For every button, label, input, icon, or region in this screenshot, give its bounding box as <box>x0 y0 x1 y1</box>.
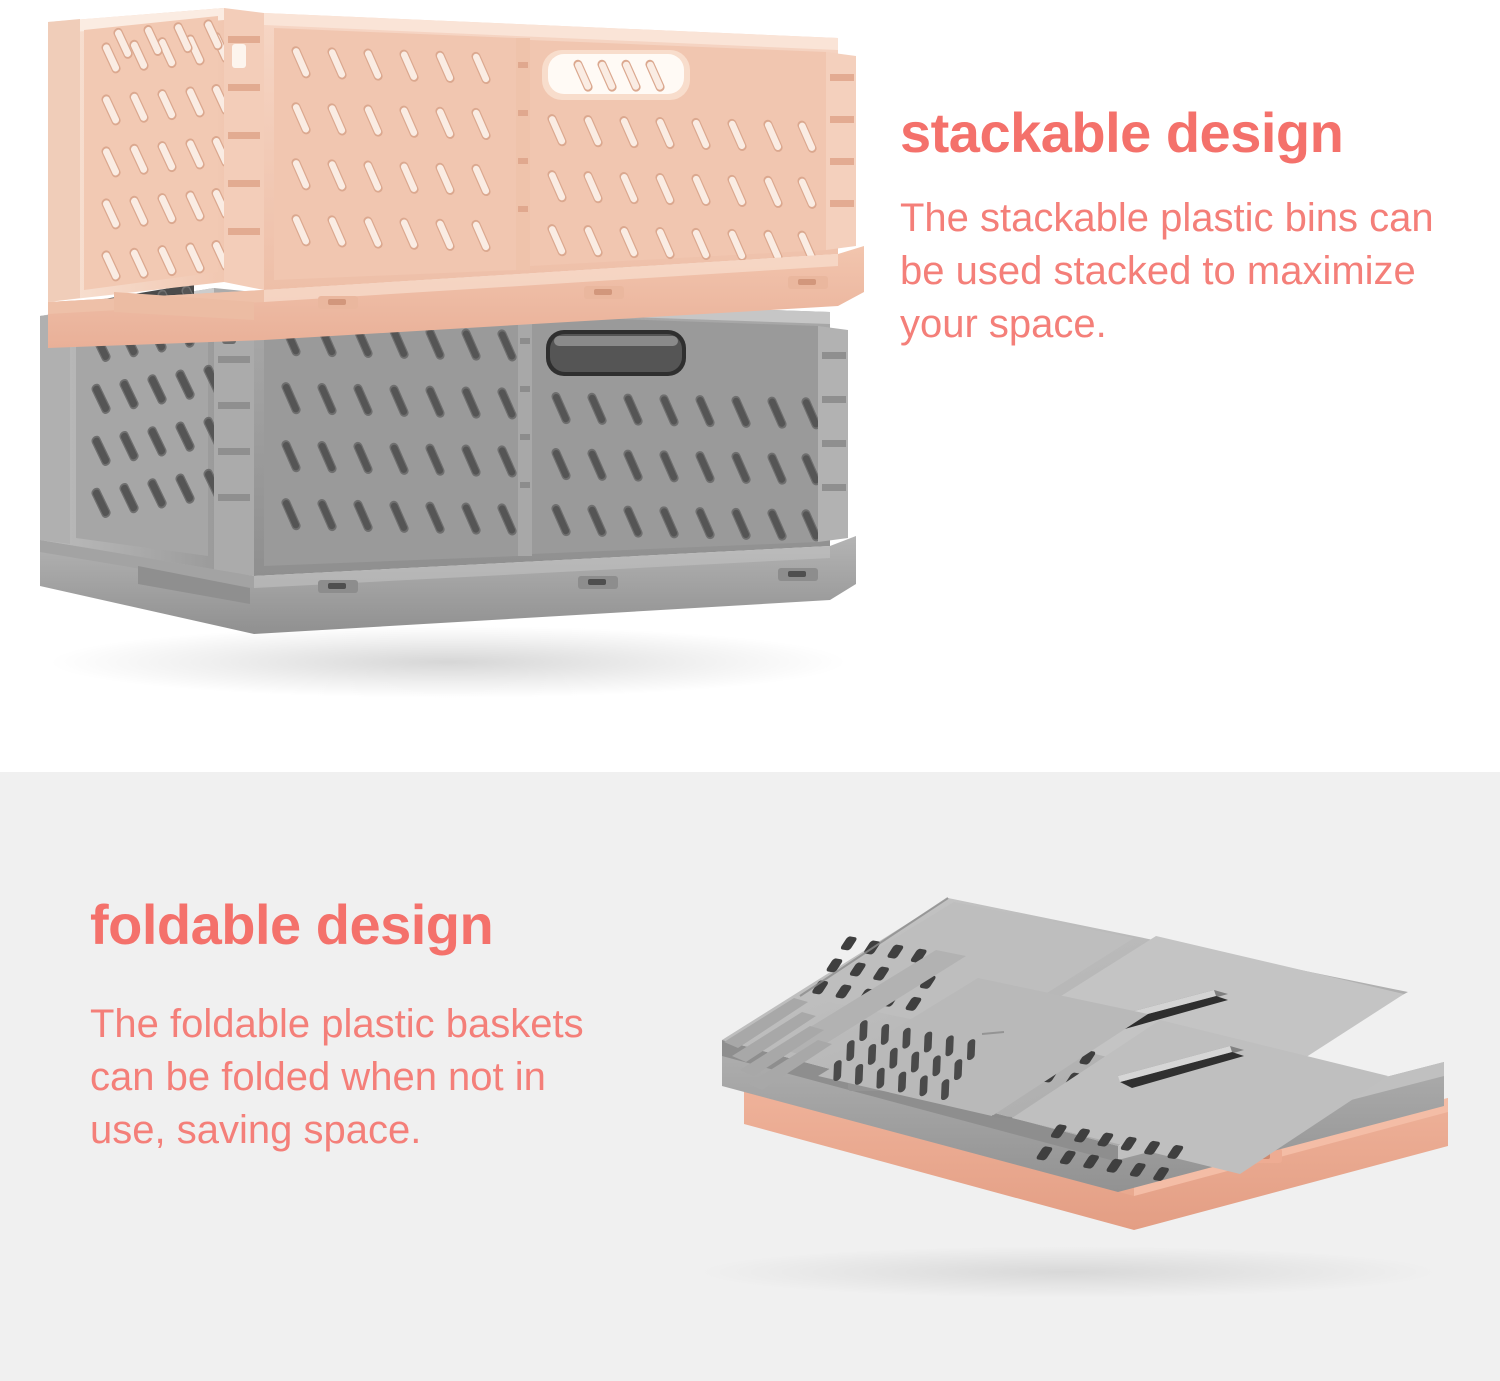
stackable-copy-block: stackable design The stackable plastic b… <box>900 104 1460 351</box>
stackable-design-section: stackable design The stackable plastic b… <box>0 0 1500 772</box>
stacked-crates-image <box>18 0 886 700</box>
pink-crate-corner-rib <box>224 8 264 290</box>
pink-crate-front-panel <box>264 13 856 290</box>
stackable-body-text: The stackable plastic bins can be used s… <box>900 192 1460 350</box>
foldable-design-section: foldable design The foldable plastic bas… <box>0 772 1500 1381</box>
folded-crates-image <box>648 880 1468 1310</box>
gray-crate-handle <box>546 330 686 376</box>
foldable-body-text: The foldable plastic baskets can be fold… <box>90 998 610 1156</box>
foldable-headline: foldable design <box>90 896 610 954</box>
pink-crate-side-panel <box>48 8 232 302</box>
stackable-headline: stackable design <box>900 104 1460 162</box>
pink-crate-handle <box>542 50 690 100</box>
foldable-copy-block: foldable design The foldable plastic bas… <box>90 896 610 1157</box>
